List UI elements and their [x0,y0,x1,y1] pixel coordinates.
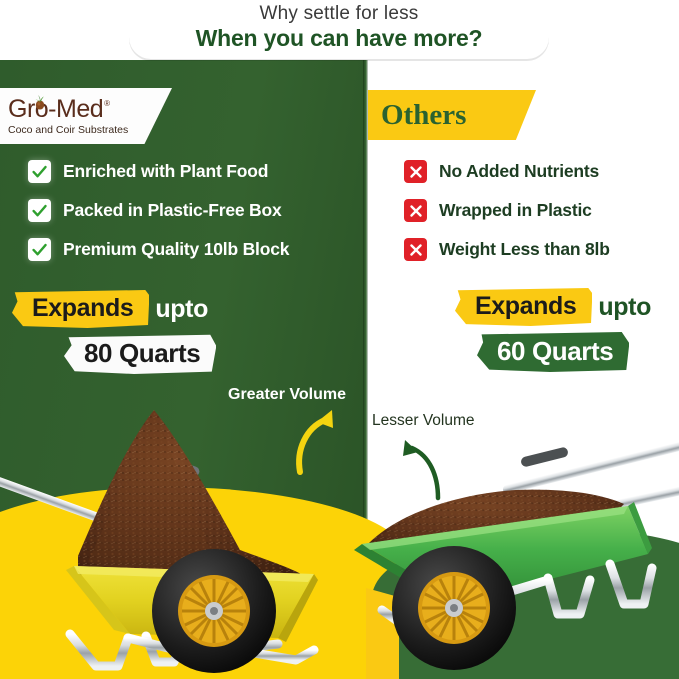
expand-amount: 80 Quarts [84,338,200,368]
check-icon [28,199,51,222]
check-icon [28,238,51,261]
header-card: Why settle for less When you can have mo… [129,0,549,59]
cross-icon [404,199,427,222]
expands-brush-stroke: Expands [12,290,149,328]
upto-label: upto [155,295,208,324]
brand-tagline: Coco and Coir Substrates [8,124,172,136]
list-item-label: Packed in Plastic-Free Box [63,200,282,221]
left-expands-banner: Expands upto 80 Quarts [12,290,342,374]
expands-label: Expands [32,294,133,322]
right-feature-list: No Added Nutrients Wrapped in Plastic We… [404,160,674,277]
brand-banner: Gro-Med ® Coco and Coir Substrates [0,88,172,144]
list-item-label: Weight Less than 8lb [439,239,610,260]
check-icon [28,160,51,183]
left-expands-row: Expands upto [12,290,342,328]
list-item: Wrapped in Plastic [404,199,674,222]
right-expands-banner: Expands upto 60 Quarts [455,288,675,372]
expands-brush-stroke: Expands [455,288,592,326]
list-item-label: Enriched with Plant Food [63,161,268,182]
greater-volume-annotation: Greater Volume [228,386,346,404]
left-barrow-wheel [152,549,276,673]
others-banner: Others [368,90,536,140]
list-item-label: Premium Quality 10lb Block [63,239,289,260]
seedling-icon [33,93,47,110]
cross-icon [404,238,427,261]
amount-brush-stroke: 80 Quarts [64,334,216,374]
list-item: No Added Nutrients [404,160,674,183]
cross-icon [404,160,427,183]
comparison-infographic: Why settle for less When you can have mo… [0,0,679,679]
header-line-2: When you can have more? [196,24,483,53]
curved-up-arrow-icon [392,436,446,502]
list-item: Premium Quality 10lb Block [28,238,358,261]
list-item: Enriched with Plant Food [28,160,358,183]
expands-label: Expands [475,292,576,320]
logo-wordmark: Gro-Med [8,97,103,122]
logo: Gro-Med ® [8,97,172,122]
list-item-label: No Added Nutrients [439,161,599,182]
list-item: Packed in Plastic-Free Box [28,199,358,222]
amount-brush-stroke: 60 Quarts [477,332,629,372]
right-expands-row: Expands upto [455,288,675,326]
list-item: Weight Less than 8lb [404,238,674,261]
registered-mark: ® [104,99,110,108]
list-item-label: Wrapped in Plastic [439,200,592,221]
right-amount-row: 60 Quarts [477,332,675,372]
others-title: Others [381,99,466,132]
right-barrow-wheel [392,546,516,670]
lesser-volume-annotation: Lesser Volume [372,412,475,430]
left-amount-row: 80 Quarts [64,334,342,374]
header-line-1: Why settle for less [259,4,418,24]
expand-amount: 60 Quarts [497,336,613,366]
upto-label: upto [598,293,651,322]
left-feature-list: Enriched with Plant Food Packed in Plast… [28,160,358,277]
curved-up-arrow-icon [292,404,352,478]
